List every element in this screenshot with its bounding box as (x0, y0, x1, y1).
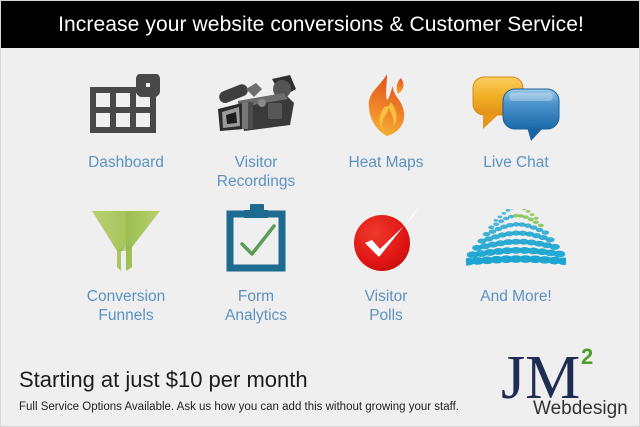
feature-label-line2: Recordings (217, 173, 295, 190)
company-logo[interactable]: JM 2 Webdesigners (495, 340, 627, 418)
feature-label-line1: Heat Maps (349, 154, 424, 171)
feature-label-line1: Live Chat (483, 154, 548, 171)
feature-label: And More! (480, 287, 552, 306)
promo-subtext: Full Service Options Available. Ask us h… (19, 401, 459, 413)
feature-label-line2: Polls (369, 307, 403, 324)
dot-wave-icon (451, 197, 581, 283)
feature-label-line1: And More! (480, 288, 552, 305)
page-title: Increase your website conversions & Cust… (58, 13, 584, 37)
feature-label-line1: Visitor (235, 154, 278, 171)
feature-label: Live Chat (483, 153, 548, 172)
feature-label: Heat Maps (349, 153, 424, 172)
feature-label: Visitor Recordings (217, 153, 295, 191)
feature-label-line2: Analytics (225, 307, 287, 324)
feature-conversion-funnels[interactable]: Conversion Funnels (61, 197, 191, 325)
logo-exponent: 2 (581, 344, 593, 369)
feature-label: Form Analytics (225, 287, 287, 325)
feature-label-line1: Conversion (87, 288, 165, 305)
feature-label-line2: Funnels (98, 307, 153, 324)
feature-label: Conversion Funnels (87, 287, 165, 325)
feature-label-line1: Dashboard (88, 154, 164, 171)
feature-visitor-recordings[interactable]: Visitor Recordings (191, 63, 321, 197)
feature-grid: Dashboard (61, 63, 581, 325)
feature-label-line1: Form (238, 288, 274, 305)
feature-label-line1: Visitor (365, 288, 408, 305)
promo-poster: Increase your website conversions & Cust… (0, 0, 640, 427)
feature-visitor-polls[interactable]: Visitor Polls (321, 197, 451, 325)
speech-bubbles-icon (451, 63, 581, 149)
clipboard-check-icon (191, 197, 321, 283)
red-check-circle-icon (321, 197, 451, 283)
header-bar: Increase your website conversions & Cust… (1, 1, 640, 48)
feature-form-analytics[interactable]: Form Analytics (191, 197, 321, 325)
feature-live-chat[interactable]: Live Chat (451, 63, 581, 197)
dashboard-grid-icon (61, 63, 191, 149)
feature-label: Dashboard (88, 153, 164, 172)
funnel-icon (61, 197, 191, 283)
video-camera-icon (191, 63, 321, 149)
feature-dashboard[interactable]: Dashboard (61, 63, 191, 197)
feature-label: Visitor Polls (365, 287, 408, 325)
feature-and-more[interactable]: And More! (451, 197, 581, 325)
feature-heat-maps[interactable]: Heat Maps (321, 63, 451, 197)
flame-icon (321, 63, 451, 149)
logo-wordmark: Webdesigners (533, 398, 627, 418)
price-headline: Starting at just $10 per month (19, 367, 308, 393)
